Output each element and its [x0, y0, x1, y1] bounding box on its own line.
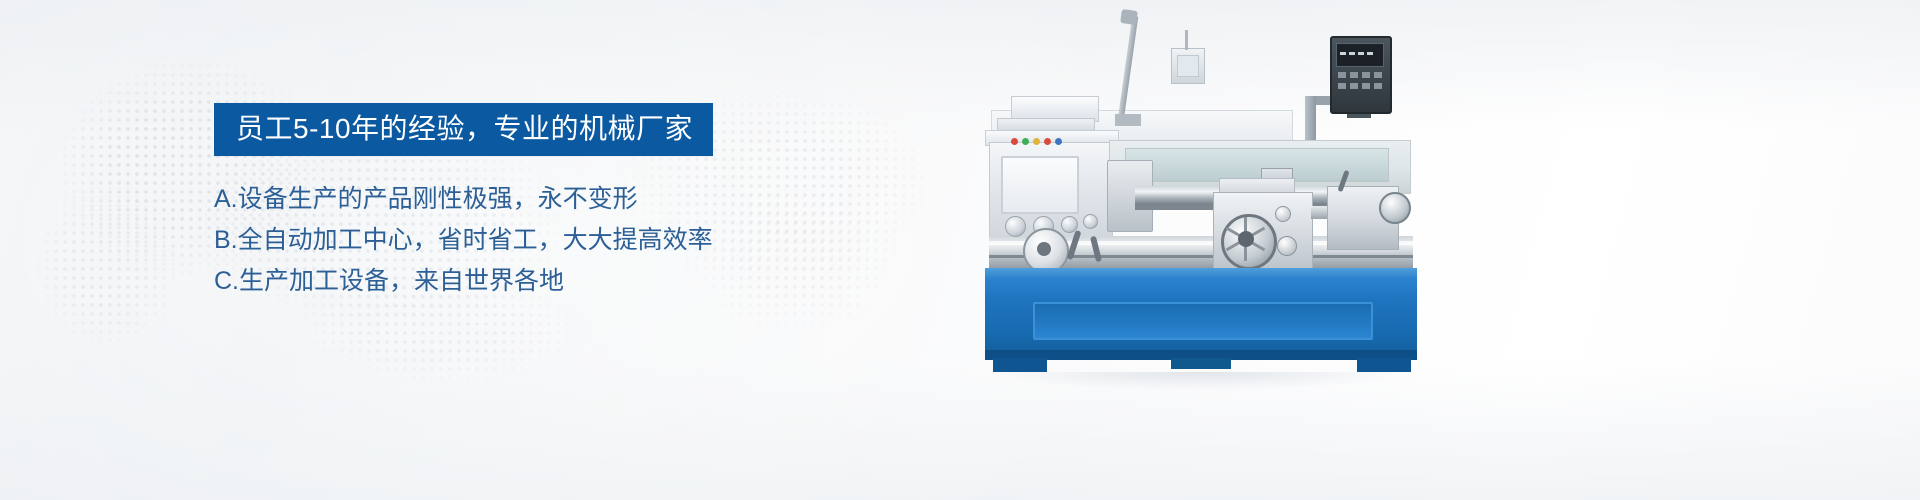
- banner-copy: 员工5-10年的经验，专业的机械厂家 A.设备生产的产品刚性极强，永不变形 B.…: [214, 103, 974, 302]
- coolant-pipe-base: [1115, 114, 1141, 126]
- coolant-pipe: [1118, 16, 1138, 120]
- dro-key: [1374, 83, 1382, 89]
- coolant-pipe-joint: [1120, 9, 1138, 25]
- dro-digit: [1358, 52, 1364, 55]
- dro-digit: [1349, 52, 1355, 55]
- machine-foot: [1171, 358, 1231, 369]
- control-button: [1022, 138, 1029, 145]
- headline-text: 员工5-10年的经验，专业的机械厂家: [236, 113, 693, 144]
- lathe-machine-image: [975, 10, 1445, 385]
- headstock-panel: [1001, 156, 1079, 214]
- list-item: C.生产加工设备，来自世界各地: [214, 261, 974, 302]
- list-item: A.设备生产的产品刚性极强，永不变形: [214, 179, 974, 220]
- handwheel-hub: [1238, 231, 1254, 247]
- control-button: [1033, 138, 1040, 145]
- splash-guard-window: [1125, 148, 1389, 182]
- list-item-label: 设备生产的产品刚性极强，永不变形: [238, 185, 638, 213]
- control-button: [1011, 138, 1018, 145]
- control-dial: [1005, 216, 1026, 237]
- list-item-label: 全自动加工中心，省时省工，大大提高效率: [238, 226, 713, 254]
- list-item-marker: C.: [214, 267, 239, 295]
- promo-banner: 员工5-10年的经验，专业的机械厂家 A.设备生产的产品刚性极强，永不变形 B.…: [0, 0, 1920, 500]
- feature-list: A.设备生产的产品刚性极强，永不变形 B.全自动加工中心，省时省工，大大提高效率…: [214, 179, 974, 302]
- speed-selector-hub: [1037, 242, 1051, 256]
- control-dial: [1083, 214, 1098, 229]
- dro-digit: [1367, 52, 1373, 55]
- machine-reflection: [995, 372, 1407, 390]
- dro-key: [1374, 72, 1382, 78]
- headline-bar: 员工5-10年的经验，专业的机械厂家: [214, 103, 713, 156]
- machine-base-panel: [1033, 302, 1373, 340]
- machine-foot: [1357, 358, 1411, 372]
- control-button: [1044, 138, 1051, 145]
- dro-key: [1338, 72, 1346, 78]
- dro-key: [1350, 72, 1358, 78]
- dro-key: [1362, 83, 1370, 89]
- world-map-dots: [0, 150, 180, 380]
- tailstock-handwheel: [1379, 192, 1411, 224]
- hanging-control-box-wire: [1185, 30, 1188, 50]
- hanging-control-box-face: [1177, 55, 1199, 77]
- control-button: [1055, 138, 1062, 145]
- dro-screen: [1336, 43, 1384, 67]
- carriage-knob: [1275, 206, 1291, 222]
- list-item-label: 生产加工设备，来自世界各地: [239, 267, 564, 295]
- list-item-marker: B.: [214, 226, 238, 254]
- dro-key: [1338, 83, 1346, 89]
- list-item: B.全自动加工中心，省时省工，大大提高效率: [214, 220, 974, 261]
- carriage-knob: [1277, 236, 1297, 256]
- dro-key: [1362, 72, 1370, 78]
- machine-foot: [993, 358, 1047, 372]
- list-item-marker: A.: [214, 185, 238, 213]
- dro-digit: [1340, 52, 1346, 55]
- dro-key: [1350, 83, 1358, 89]
